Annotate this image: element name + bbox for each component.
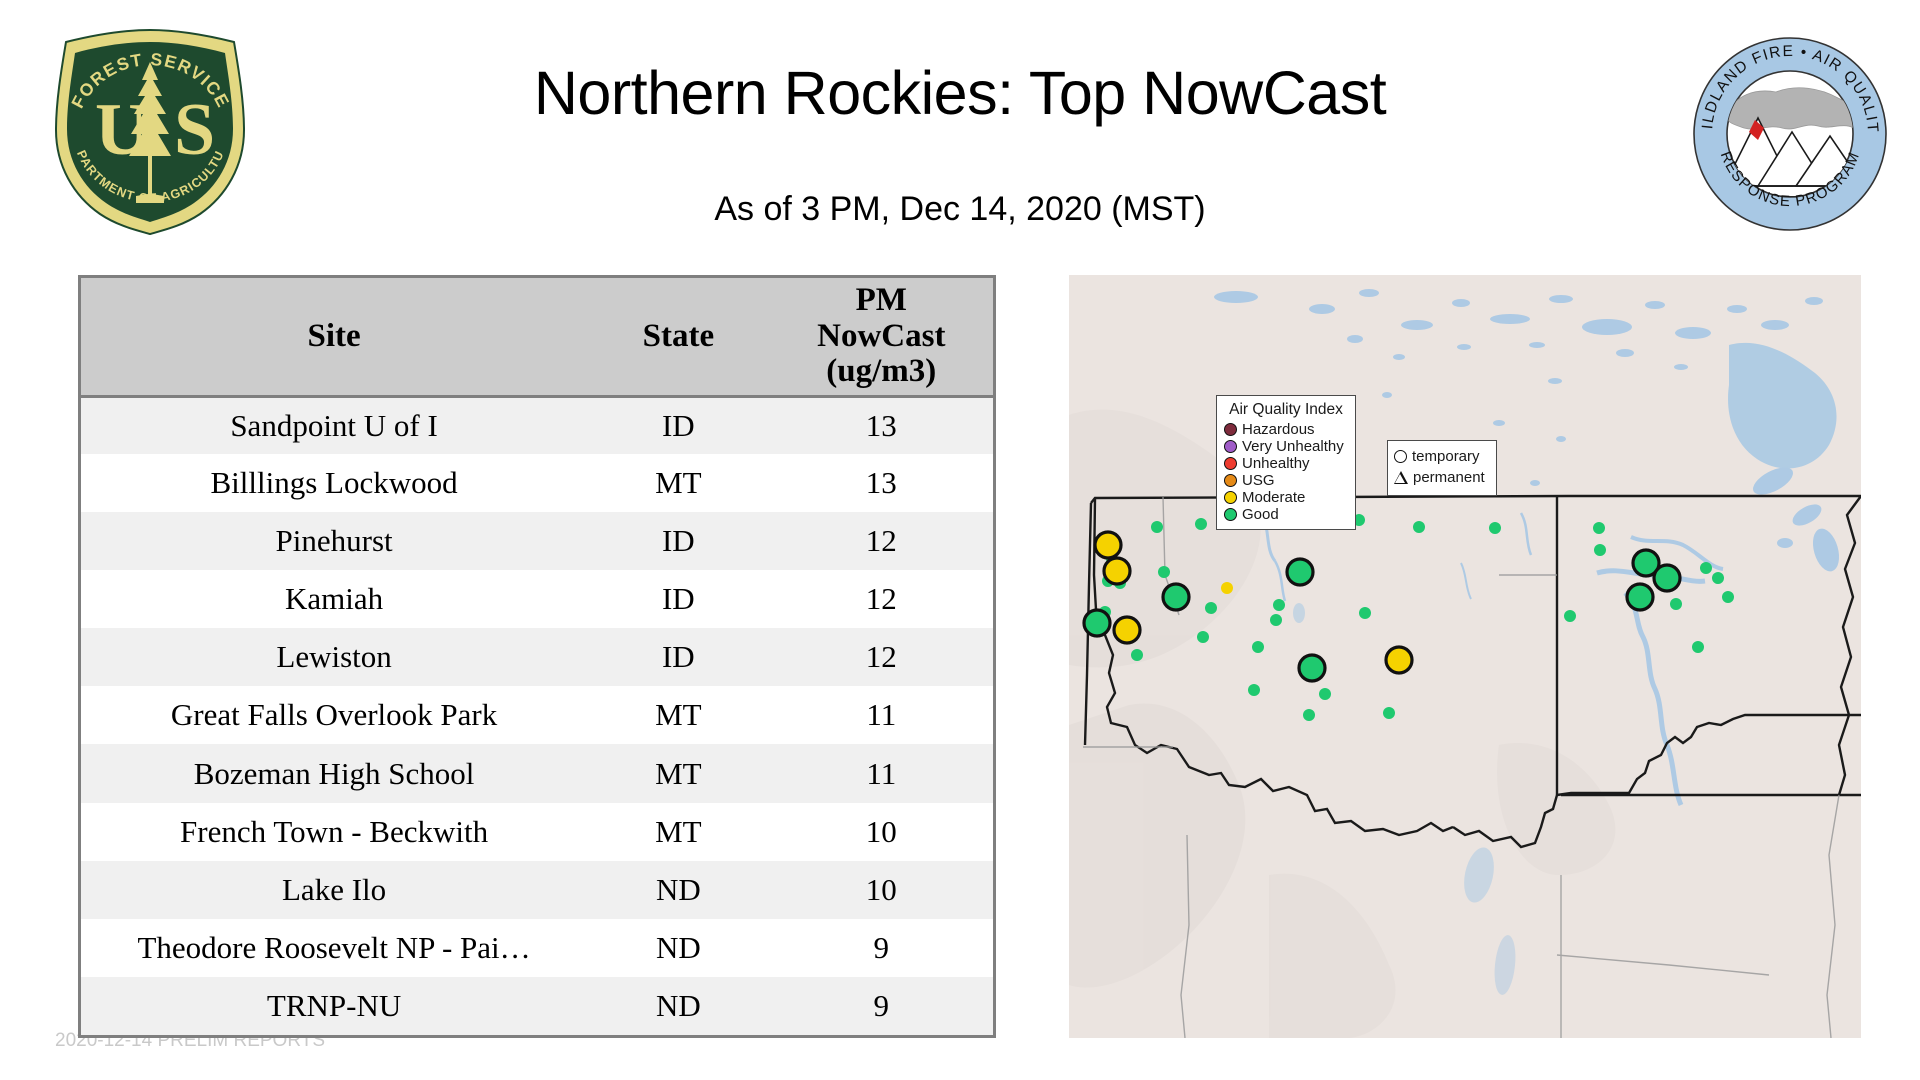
cell-state-code: MT — [587, 454, 769, 512]
cell-site-name: Billlings Lockwood — [81, 454, 587, 512]
cell-site-name: Kamiah — [81, 570, 587, 628]
monitor-marker-small[interactable] — [1594, 544, 1606, 556]
legend-row-unhealthy: Unhealthy — [1224, 455, 1348, 472]
legend-label-permanent: permanent — [1413, 469, 1485, 486]
legend-row-moderate: Moderate — [1224, 489, 1348, 506]
monitor-marker-large[interactable] — [1163, 584, 1189, 610]
top-nowcast-table: Site State PM NowCast (ug/m3) Sandpoint … — [81, 278, 993, 1035]
cell-site-name: Great Falls Overlook Park — [81, 686, 587, 744]
monitor-marker-small[interactable] — [1722, 591, 1734, 603]
table-row[interactable]: PinehurstID12 — [81, 512, 993, 570]
monitor-marker-small[interactable] — [1593, 522, 1605, 534]
monitor-marker-small[interactable] — [1221, 582, 1233, 594]
cell-pm-nowcast-value: 11 — [770, 744, 993, 802]
legend-row-usg: USG — [1224, 472, 1348, 489]
monitor-marker-small[interactable] — [1700, 562, 1712, 574]
monitor-marker-small[interactable] — [1489, 522, 1501, 534]
monitor-marker-small[interactable] — [1303, 709, 1315, 721]
monitor-marker-small[interactable] — [1270, 614, 1282, 626]
legend-row-very-unhealthy: Very Unhealthy — [1224, 438, 1348, 455]
monitor-marker-small[interactable] — [1670, 598, 1682, 610]
monitor-marker-small[interactable] — [1252, 641, 1264, 653]
monitor-marker-small[interactable] — [1273, 599, 1285, 611]
triangle-marker-icon — [1394, 471, 1408, 484]
cell-pm-nowcast-value: 9 — [770, 977, 993, 1035]
cell-site-name: Theodore Roosevelt NP - Pai… — [81, 919, 587, 977]
page-subtitle: As of 3 PM, Dec 14, 2020 (MST) — [270, 190, 1650, 229]
monitor-marker-small[interactable] — [1205, 602, 1217, 614]
monitor-marker-small[interactable] — [1151, 521, 1163, 533]
cell-state-code: ID — [587, 396, 769, 454]
legend-label: Good — [1242, 506, 1279, 523]
cell-pm-nowcast-value: 9 — [770, 919, 993, 977]
monitor-marker-large[interactable] — [1114, 617, 1140, 643]
wildland-fire-air-quality-response-program-logo: WILDLAND FIRE • AIR QUALITY RESPONSE PRO… — [1692, 36, 1888, 232]
table-row[interactable]: Bozeman High SchoolMT11 — [81, 744, 993, 802]
monitor-marker-large[interactable] — [1084, 610, 1110, 636]
cell-site-name: Sandpoint U of I — [81, 396, 587, 454]
monitor-marker-small[interactable] — [1712, 572, 1724, 584]
cell-state-code: ID — [587, 628, 769, 686]
cell-site-name: TRNP-NU — [81, 977, 587, 1035]
cell-state-code: MT — [587, 744, 769, 802]
table-row[interactable]: LewistonID12 — [81, 628, 993, 686]
table-row[interactable]: Great Falls Overlook ParkMT11 — [81, 686, 993, 744]
cell-state-code: ID — [587, 570, 769, 628]
monitor-marker-small[interactable] — [1692, 641, 1704, 653]
cell-pm-nowcast-value: 12 — [770, 570, 993, 628]
monitor-marker-small[interactable] — [1197, 631, 1209, 643]
cell-site-name: Bozeman High School — [81, 744, 587, 802]
legend-row-hazardous: Hazardous — [1224, 421, 1348, 438]
monitor-marker-small[interactable] — [1158, 566, 1170, 578]
column-header-pm-nowcast: PM NowCast (ug/m3) — [770, 278, 993, 396]
aqi-swatch-icon — [1224, 440, 1237, 453]
page-title: Northern Rockies: Top NowCast — [270, 58, 1650, 128]
column-header-line-1: PM — [856, 282, 907, 318]
aqi-swatch-icon — [1224, 457, 1237, 470]
cell-state-code: MT — [587, 686, 769, 744]
table-row[interactable]: Theodore Roosevelt NP - Pai…ND9 — [81, 919, 993, 977]
monitor-marker-large[interactable] — [1287, 559, 1313, 585]
cell-state-code: MT — [587, 803, 769, 861]
cell-state-code: ND — [587, 861, 769, 919]
legend-label: Very Unhealthy — [1242, 438, 1344, 455]
aqi-swatch-icon — [1224, 491, 1237, 504]
cell-site-name: French Town - Beckwith — [81, 803, 587, 861]
cell-pm-nowcast-value: 13 — [770, 396, 993, 454]
monitor-marker-small[interactable] — [1413, 521, 1425, 533]
shield-letter-s: S — [174, 89, 215, 171]
monitor-marker-small[interactable] — [1564, 610, 1576, 622]
legend-label: USG — [1242, 472, 1275, 489]
air-quality-index-legend: Air Quality Index HazardousVery Unhealth… — [1216, 395, 1356, 530]
column-header-state: State — [587, 278, 769, 396]
map-base-graphic — [1069, 275, 1861, 1038]
monitor-marker-large[interactable] — [1654, 565, 1680, 591]
monitor-marker-small[interactable] — [1195, 518, 1207, 530]
monitor-marker-large[interactable] — [1299, 655, 1325, 681]
table-row[interactable]: TRNP-NUND9 — [81, 977, 993, 1035]
column-header-line-2: NowCast — [817, 318, 945, 354]
cell-pm-nowcast-value: 12 — [770, 628, 993, 686]
monitor-marker-small[interactable] — [1359, 607, 1371, 619]
cell-state-code: ND — [587, 977, 769, 1035]
usfs-shield-logo: U S FOREST SERVICE DEPARTMENT OF AGRICUL… — [48, 26, 253, 238]
cell-site-name: Pinehurst — [81, 512, 587, 570]
monitor-marker-small[interactable] — [1248, 684, 1260, 696]
cell-pm-nowcast-value: 10 — [770, 803, 993, 861]
legend-label: Moderate — [1242, 489, 1305, 506]
legend-label-temporary: temporary — [1412, 448, 1480, 465]
cell-site-name: Lewiston — [81, 628, 587, 686]
legend-label: Unhealthy — [1242, 455, 1310, 472]
aqi-swatch-icon — [1224, 508, 1237, 521]
monitor-marker-small[interactable] — [1383, 707, 1395, 719]
monitor-marker-large[interactable] — [1104, 558, 1130, 584]
slide-canvas: 2020-12-14 PRELIM REPORTS U S FOREST SER… — [0, 0, 1920, 1080]
cell-pm-nowcast-value: 10 — [770, 861, 993, 919]
column-header-site: Site — [81, 278, 587, 396]
legend-label: Hazardous — [1242, 421, 1315, 438]
monitor-marker-small[interactable] — [1319, 688, 1331, 700]
cell-site-name: Lake Ilo — [81, 861, 587, 919]
table-row[interactable]: Billlings LockwoodMT13 — [81, 454, 993, 512]
monitor-marker-large[interactable] — [1627, 584, 1653, 610]
legend-row-good: Good — [1224, 506, 1348, 523]
cell-pm-nowcast-value: 11 — [770, 686, 993, 744]
column-header-line-3: (ug/m3) — [826, 353, 936, 389]
table-row[interactable]: KamiahID12 — [81, 570, 993, 628]
site-type-legend: temporary permanent — [1387, 440, 1497, 496]
air-quality-monitor-map[interactable]: Air Quality Index HazardousVery Unhealth… — [1069, 275, 1861, 1038]
aqi-swatch-icon — [1224, 474, 1237, 487]
legend-row-temporary: temporary — [1394, 446, 1490, 467]
legend-title: Air Quality Index — [1224, 401, 1348, 419]
aqi-swatch-icon — [1224, 423, 1237, 436]
table-header-row: Site State PM NowCast (ug/m3) — [81, 278, 993, 396]
monitor-marker-large[interactable] — [1095, 532, 1121, 558]
table-row[interactable]: Sandpoint U of IID13 — [81, 396, 993, 454]
cell-pm-nowcast-value: 13 — [770, 454, 993, 512]
monitor-marker-large[interactable] — [1386, 647, 1412, 673]
top-nowcast-table-container: Site State PM NowCast (ug/m3) Sandpoint … — [78, 275, 996, 1038]
monitor-marker-small[interactable] — [1131, 649, 1143, 661]
cell-pm-nowcast-value: 12 — [770, 512, 993, 570]
table-row[interactable]: French Town - BeckwithMT10 — [81, 803, 993, 861]
legend-row-permanent: permanent — [1394, 467, 1490, 488]
circle-marker-icon — [1394, 450, 1407, 463]
table-row[interactable]: Lake IloND10 — [81, 861, 993, 919]
cell-state-code: ID — [587, 512, 769, 570]
cell-state-code: ND — [587, 919, 769, 977]
